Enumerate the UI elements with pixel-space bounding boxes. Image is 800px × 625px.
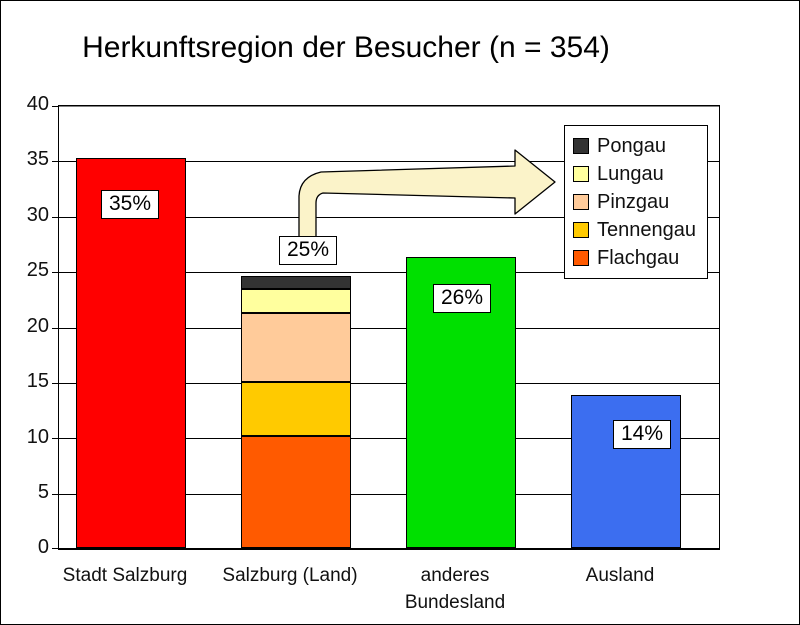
legend-item-flachgau[interactable]: Flachgau	[573, 244, 701, 272]
legend-label-tennengau: Tennengau	[597, 219, 696, 242]
ytick-mark-35	[52, 161, 59, 162]
bar-segment-pongau[interactable]	[241, 276, 351, 289]
ytick-label-5: 5	[9, 481, 49, 504]
ytick-label-25: 25	[9, 259, 49, 282]
legend: Pongau Lungau Pinzgau Tennengau Flachgau	[564, 125, 708, 279]
xlabel-line: anderes	[375, 562, 535, 589]
ytick-label-35: 35	[9, 148, 49, 171]
bar-segment-flachgau[interactable]	[241, 436, 351, 548]
xlabel-ausland: Ausland	[540, 562, 700, 589]
legend-item-pinzgau[interactable]: Pinzgau	[573, 188, 701, 216]
legend-swatch-flachgau	[573, 250, 589, 266]
gridline-40	[59, 106, 719, 107]
bar-segment-tennengau[interactable]	[241, 382, 351, 436]
legend-label-pinzgau: Pinzgau	[597, 191, 669, 214]
bar-ausland[interactable]	[571, 395, 681, 548]
legend-swatch-pongau	[573, 138, 589, 154]
ytick-label-40: 40	[9, 93, 49, 116]
bar-segment-pinzgau[interactable]	[241, 313, 351, 382]
legend-label-lungau: Lungau	[597, 163, 664, 186]
ytick-mark-20	[52, 328, 59, 329]
data-label-salzburg-land: 25%	[279, 236, 337, 265]
data-label-stadt-salzburg: 35%	[101, 190, 159, 219]
data-label-anderes-bundesland: 26%	[433, 284, 491, 313]
legend-item-lungau[interactable]: Lungau	[573, 160, 701, 188]
legend-label-pongau: Pongau	[597, 135, 666, 158]
chart-title: Herkunftsregion der Besucher (n = 354)	[1, 31, 691, 65]
legend-label-flachgau: Flachgau	[597, 247, 679, 270]
bar-segment-lungau[interactable]	[241, 289, 351, 313]
legend-swatch-pinzgau	[573, 194, 589, 210]
ytick-mark-40	[52, 106, 59, 107]
ytick-mark-15	[52, 383, 59, 384]
ytick-label-30: 30	[9, 204, 49, 227]
ytick-label-15: 15	[9, 370, 49, 393]
gridline-0	[59, 548, 719, 549]
chart-canvas: Herkunftsregion der Besucher (n = 354)	[0, 0, 800, 625]
xlabel-anderes-bundesland: anderes Bundesland	[375, 562, 535, 616]
ytick-mark-5	[52, 494, 59, 495]
ytick-label-20: 20	[9, 315, 49, 338]
legend-swatch-lungau	[573, 166, 589, 182]
legend-item-pongau[interactable]: Pongau	[573, 132, 701, 160]
xlabel-stadt-salzburg: Stadt Salzburg	[45, 562, 205, 589]
ytick-label-0: 0	[9, 536, 49, 559]
xlabel-line: Ausland	[540, 562, 700, 589]
xlabel-line: Stadt Salzburg	[45, 562, 205, 589]
data-label-ausland: 14%	[613, 420, 671, 449]
xlabel-line: Bundesland	[375, 589, 535, 616]
ytick-label-10: 10	[9, 426, 49, 449]
ytick-mark-30	[52, 217, 59, 218]
xlabel-line: Salzburg (Land)	[210, 562, 370, 589]
bar-salzburg-land[interactable]	[241, 276, 351, 548]
legend-swatch-tennengau	[573, 222, 589, 238]
ytick-mark-0	[52, 548, 59, 549]
ytick-mark-10	[52, 438, 59, 439]
xlabel-salzburg-land: Salzburg (Land)	[210, 562, 370, 589]
legend-item-tennengau[interactable]: Tennengau	[573, 216, 701, 244]
ytick-mark-25	[52, 272, 59, 273]
